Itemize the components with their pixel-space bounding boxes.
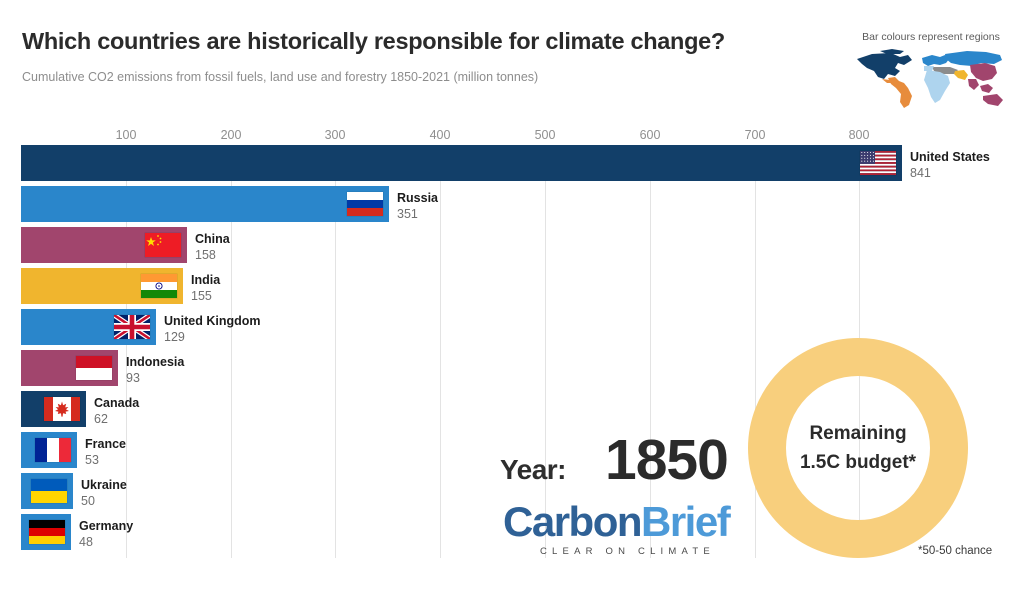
donut-footnote: *50-50 chance xyxy=(918,545,992,557)
bar-value-united-kingdom: 129 xyxy=(164,330,185,344)
flag-icon-in xyxy=(141,274,177,298)
logo-part-carbon: Carbon xyxy=(503,498,641,545)
gridline-500 xyxy=(545,145,546,558)
carbonbrief-logo: CarbonBrief CLEAR ON CLIMATE xyxy=(503,500,729,544)
bar-value-ukraine: 50 xyxy=(81,494,95,508)
bar-value-germany: 48 xyxy=(79,535,93,549)
x-axis-tick-800: 800 xyxy=(849,128,870,142)
bar-france xyxy=(21,432,77,468)
bar-label-ukraine: Ukraine xyxy=(81,478,127,492)
bar-label-germany: Germany xyxy=(79,519,133,533)
bar-united-states xyxy=(21,145,902,181)
bar-label-united-kingdom: United Kingdom xyxy=(164,314,261,328)
gridline-600 xyxy=(650,145,651,558)
bar-label-china: China xyxy=(195,232,230,246)
flag-icon-de xyxy=(29,520,65,544)
bar-value-india: 155 xyxy=(191,289,212,303)
bar-label-canada: Canada xyxy=(94,396,139,410)
donut-center-text: Remaining 1.5C budget* xyxy=(748,338,968,558)
bar-germany xyxy=(21,514,71,550)
infographic-canvas: Which countries are historically respons… xyxy=(0,0,1024,597)
bar-label-france: France xyxy=(85,437,126,451)
x-axis-tick-300: 300 xyxy=(325,128,346,142)
bar-value-russia: 351 xyxy=(397,207,418,221)
flag-icon-gb xyxy=(114,315,150,339)
donut-line-1: Remaining xyxy=(809,419,906,448)
year-value: 1850 xyxy=(605,432,728,489)
bar-united-kingdom xyxy=(21,309,156,345)
flag-icon-ru xyxy=(347,192,383,216)
bar-ukraine xyxy=(21,473,73,509)
year-label: Year: xyxy=(500,454,566,486)
bar-canada xyxy=(21,391,86,427)
gridline-400 xyxy=(440,145,441,558)
x-axis-tick-100: 100 xyxy=(116,128,137,142)
bar-value-indonesia: 93 xyxy=(126,371,140,385)
bar-value-france: 53 xyxy=(85,453,99,467)
flag-icon-ua xyxy=(31,479,67,503)
bar-label-united-states: United States xyxy=(910,150,990,164)
x-axis-tick-400: 400 xyxy=(430,128,451,142)
flag-icon-cn xyxy=(145,233,181,257)
flag-icon-ca xyxy=(44,397,80,421)
x-axis-tick-500: 500 xyxy=(535,128,556,142)
bar-label-russia: Russia xyxy=(397,191,438,205)
donut-line-2: 1.5C budget* xyxy=(800,448,916,477)
bar-value-united-states: 841 xyxy=(910,166,931,180)
remaining-budget-donut: Remaining 1.5C budget* xyxy=(748,338,968,558)
logo-part-brief: Brief xyxy=(641,498,729,545)
bar-indonesia xyxy=(21,350,118,386)
flag-icon-fr xyxy=(35,438,71,462)
x-axis-tick-200: 200 xyxy=(221,128,242,142)
flag-icon-us xyxy=(860,151,896,175)
bar-russia xyxy=(21,186,389,222)
bar-value-canada: 62 xyxy=(94,412,108,426)
bar-value-china: 158 xyxy=(195,248,216,262)
bar-china xyxy=(21,227,187,263)
logo-tagline: CLEAR ON CLIMATE xyxy=(540,546,715,557)
flag-icon-id xyxy=(76,356,112,380)
bar-label-india: India xyxy=(191,273,220,287)
x-axis-tick-600: 600 xyxy=(640,128,661,142)
bar-label-indonesia: Indonesia xyxy=(126,355,184,369)
x-axis-tick-700: 700 xyxy=(745,128,766,142)
bar-india xyxy=(21,268,183,304)
